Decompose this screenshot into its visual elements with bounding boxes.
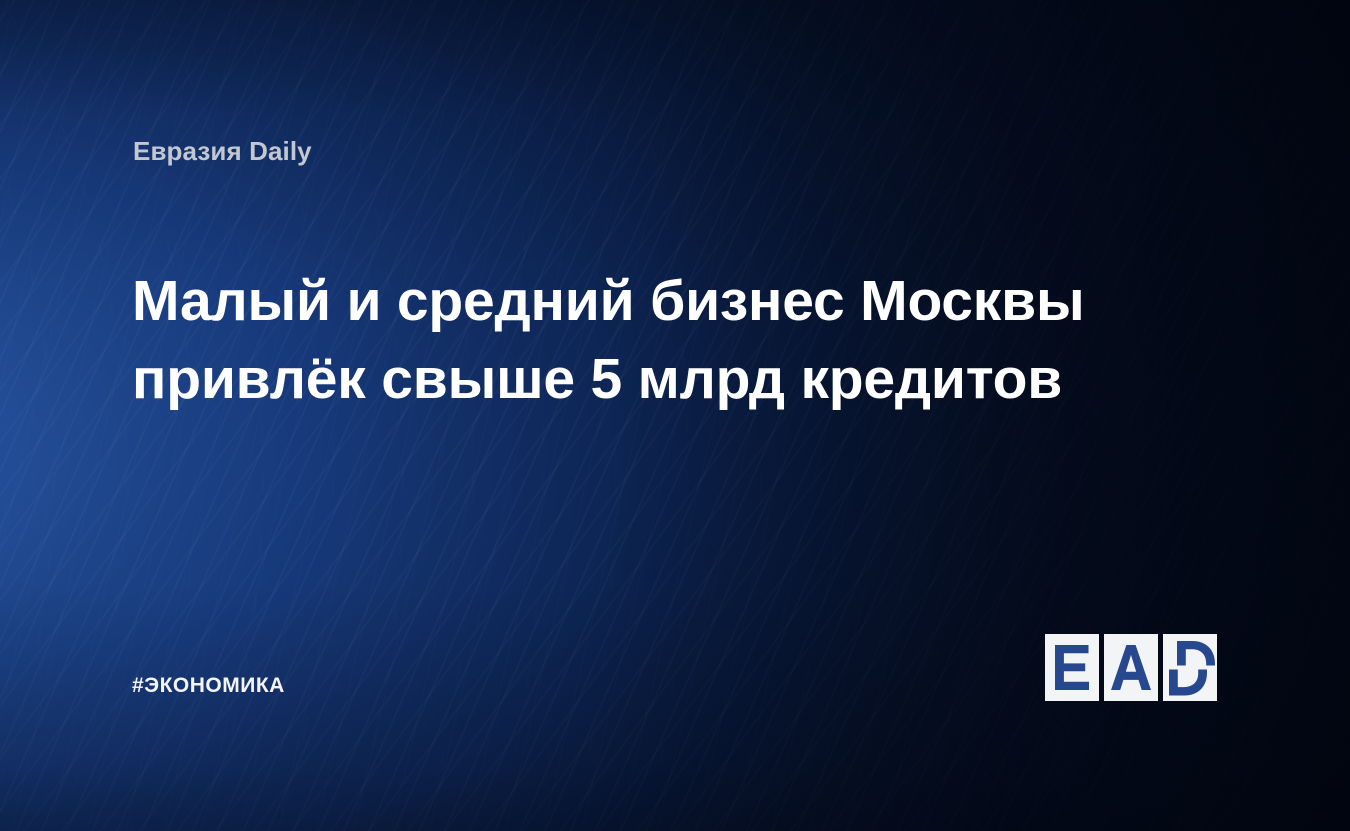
- logo-tile-a: [1104, 634, 1158, 701]
- logo-letter-e-icon: [1055, 645, 1089, 690]
- logo-tile-e: [1045, 634, 1099, 701]
- eadaily-logo[interactable]: [1045, 634, 1217, 701]
- page-title-line-1: Малый и средний бизнес Москвы: [132, 262, 1092, 340]
- page-title: Малый и средний бизнес Москвы привлёк св…: [132, 262, 1092, 418]
- logo-letter-d-split-icon: [1163, 634, 1217, 701]
- logo-tile-d-split: [1163, 634, 1217, 701]
- logo-letter-a-icon: [1111, 645, 1151, 690]
- news-share-card: Евразия Daily Малый и средний бизнес Мос…: [0, 0, 1350, 831]
- page-title-line-2: привлёк свыше 5 млрд кредитов: [132, 340, 1092, 418]
- category-hashtag[interactable]: #ЭКОНОМИКА: [132, 674, 285, 698]
- brand-name: Евразия Daily: [133, 136, 312, 166]
- card-content: Евразия Daily Малый и средний бизнес Мос…: [0, 0, 1350, 831]
